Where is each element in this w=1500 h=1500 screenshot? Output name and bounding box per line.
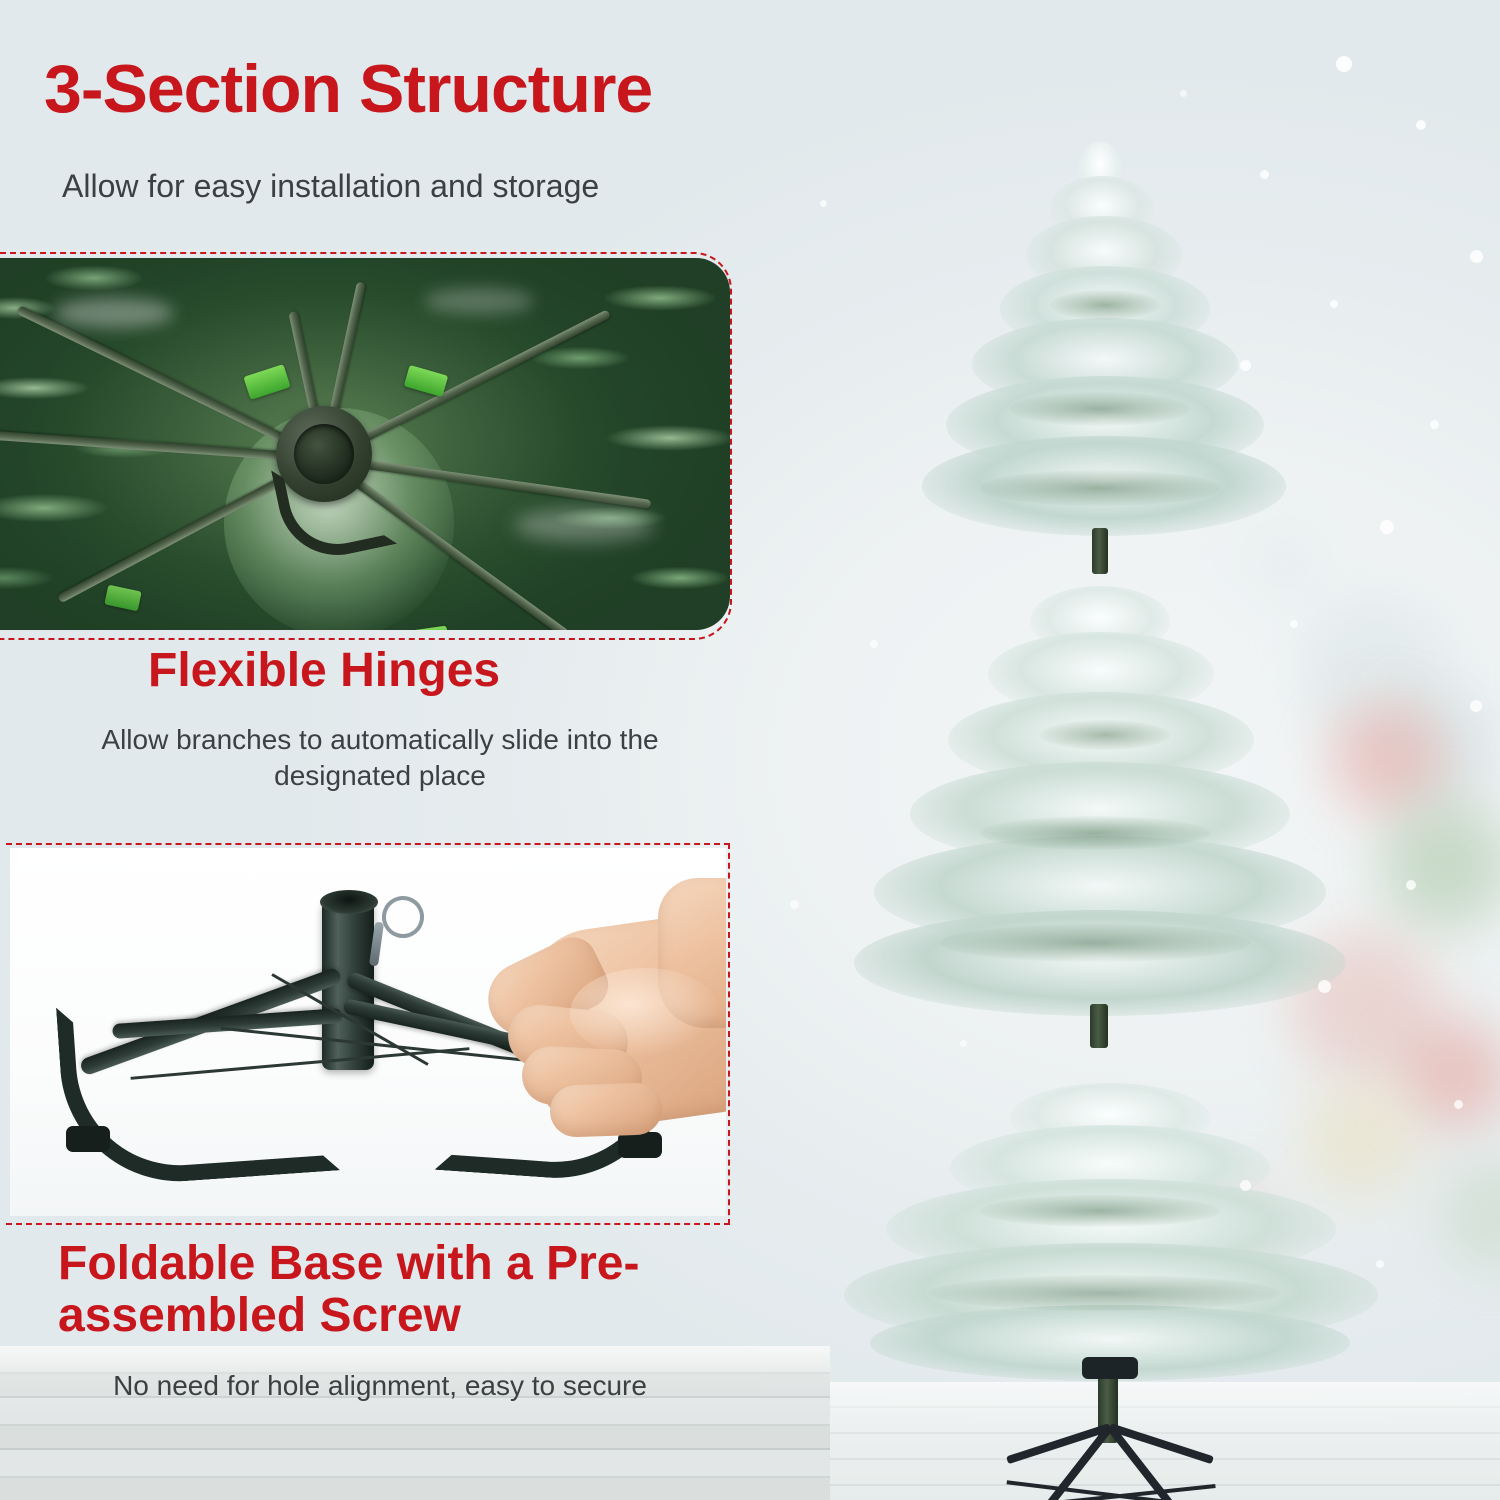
snowflake [1430, 420, 1439, 429]
snowflake [1416, 120, 1426, 130]
tree-section-pole [1092, 528, 1108, 574]
foldable-base-subtitle: No need for hole alignment, easy to secu… [70, 1368, 690, 1404]
snowflake [1330, 300, 1338, 308]
tree-stand-collar [1082, 1357, 1138, 1379]
foldable-base-photo [10, 848, 726, 1216]
snowflake [790, 900, 799, 909]
bokeh-ornament-red [1400, 1020, 1500, 1130]
snowflake [820, 200, 827, 207]
bokeh-light [1380, 690, 1500, 810]
tree-section-middle [840, 580, 1360, 1050]
hinges-subtitle: Allow branches to automatically slide in… [30, 722, 730, 794]
snowflake [1470, 700, 1482, 712]
snowflake [1470, 250, 1483, 263]
foldable-base-title: Foldable Base with a Pre-assembled Screw [58, 1238, 758, 1342]
snowflake [1380, 520, 1394, 534]
snowflake [1406, 880, 1416, 890]
snowflake [1454, 1100, 1463, 1109]
stand-foot-cap [66, 1126, 110, 1152]
page-title: 3-Section Structure [44, 50, 652, 128]
hand-finger [549, 1082, 663, 1138]
product-feature-image: 3-Section Structure Allow for easy insta… [0, 0, 1500, 1500]
bokeh-ornament-green [1380, 800, 1500, 930]
hinge-closeup-photo [0, 258, 730, 630]
pre-assembled-screw-ring [377, 891, 430, 944]
stand-foot-left [56, 989, 340, 1190]
snowflake [1180, 90, 1187, 97]
tree-section-top [900, 140, 1300, 570]
tree-section-bottom [830, 1075, 1390, 1495]
page-subtitle: Allow for easy installation and storage [62, 168, 599, 205]
tree-section-pole [1090, 1004, 1108, 1048]
stand-foot-cap [618, 1132, 662, 1158]
snowflake [1336, 56, 1352, 72]
bokeh-ornament-green [1440, 1160, 1500, 1270]
hinges-title: Flexible Hinges [148, 645, 500, 697]
